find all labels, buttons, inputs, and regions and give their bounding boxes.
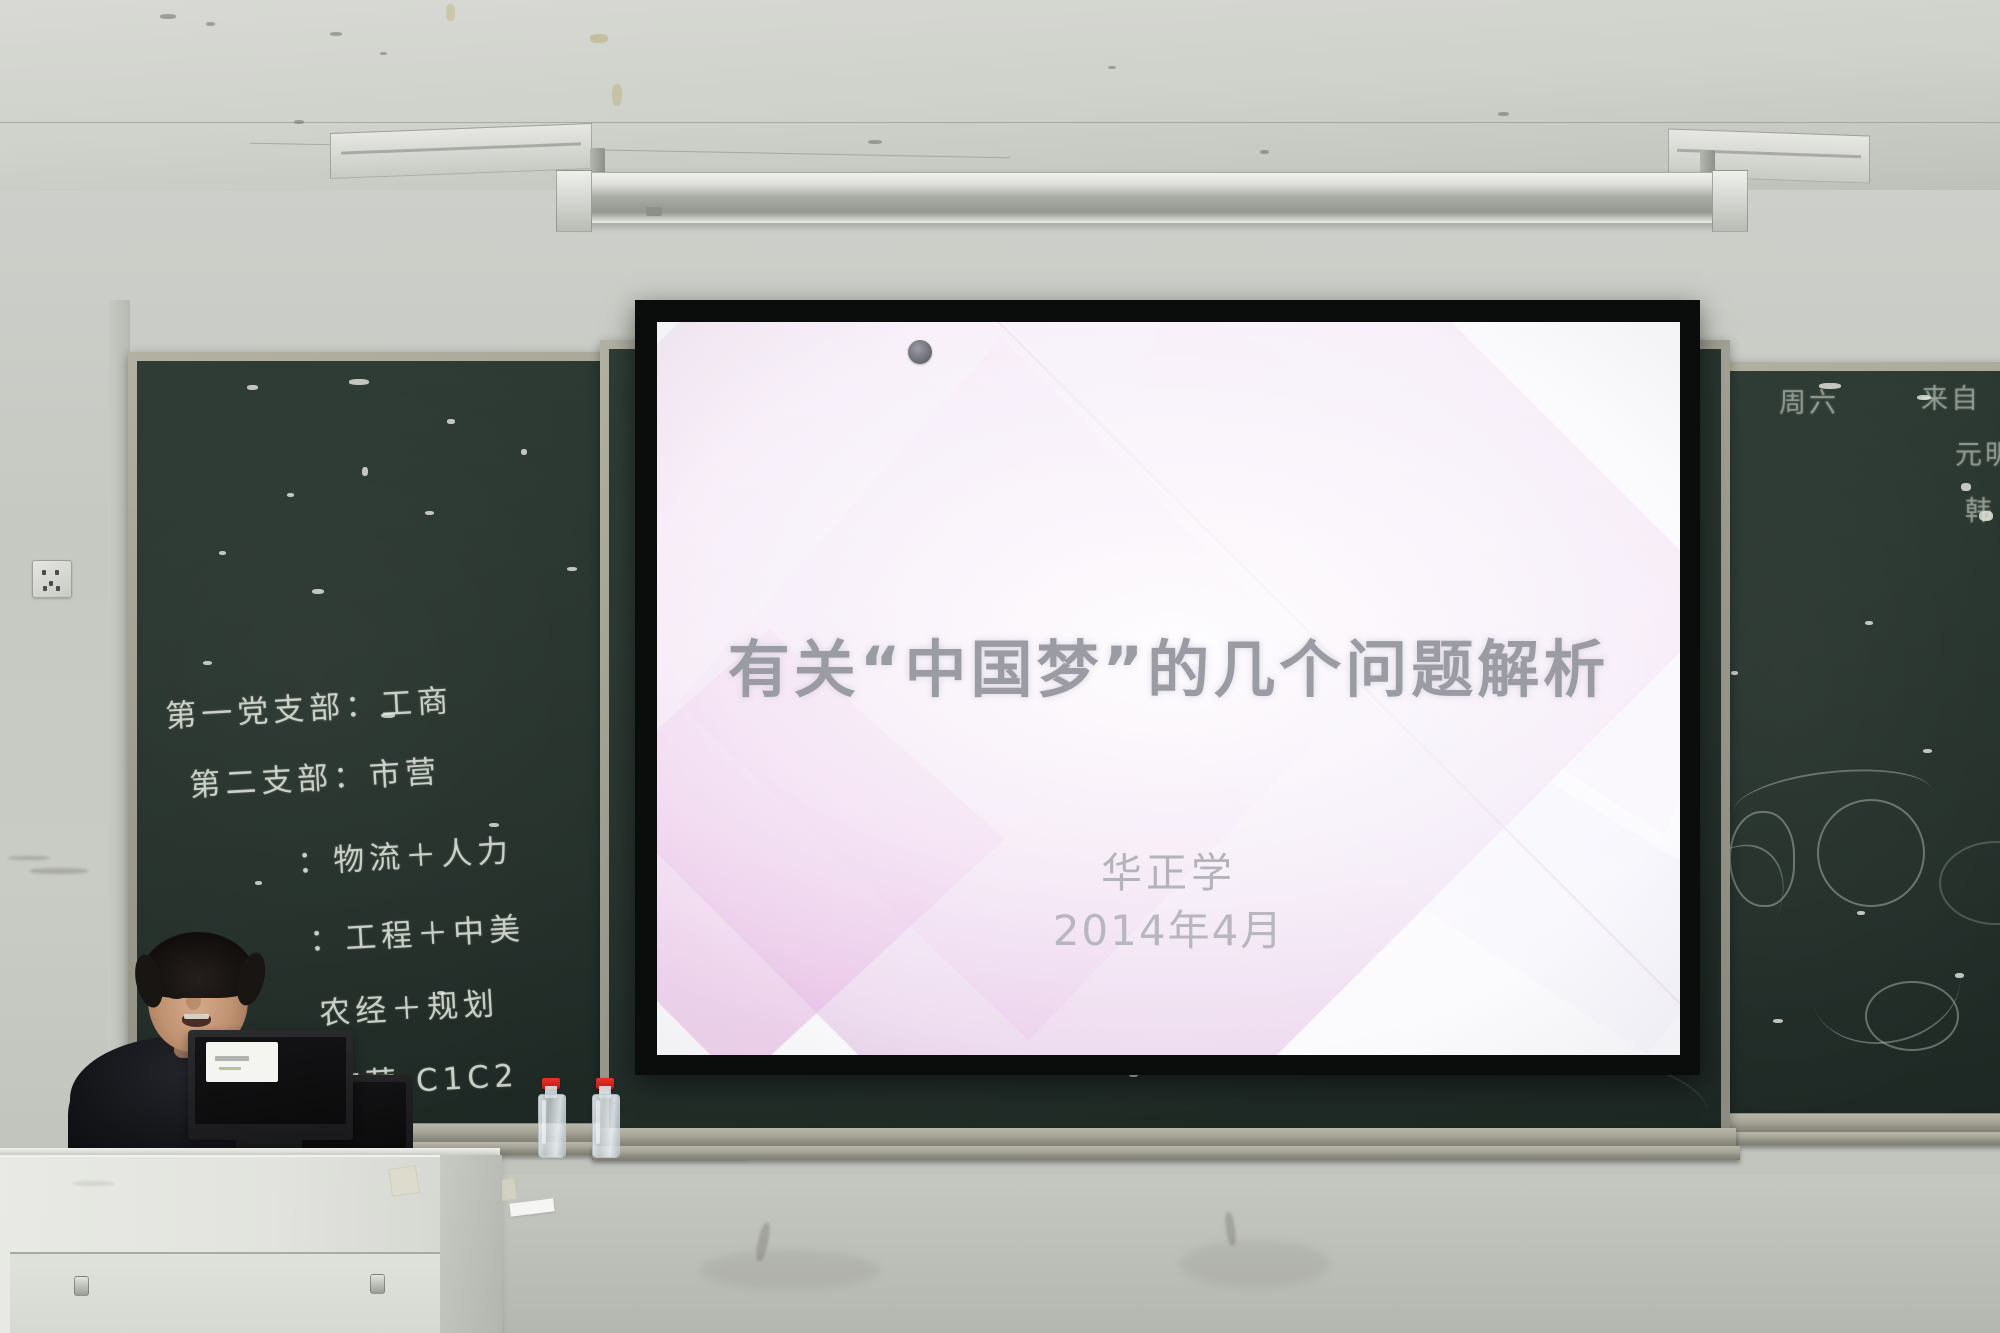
water-bottle-2[interactable] xyxy=(592,1078,618,1156)
projected-slide: 有关“中国梦”的几个问题解析 华正学 2014年4月 xyxy=(657,322,1680,1055)
slide-date: 2014年4月 xyxy=(657,897,1680,958)
projection-screen[interactable]: 有关“中国梦”的几个问题解析 华正学 2014年4月 xyxy=(635,300,1700,1075)
chalk-line-1: 第一党支部：工商 xyxy=(164,675,454,736)
podium-lock-right[interactable] xyxy=(370,1274,385,1294)
podium-side xyxy=(440,1155,502,1333)
chalk-doodle-oval-4 xyxy=(1939,841,2000,925)
chalk-ledge-center-lip xyxy=(592,1146,1740,1160)
screen-roller-end-right xyxy=(1712,170,1748,232)
podium-lock-left[interactable] xyxy=(74,1276,89,1296)
chalk-right-5: 韩 xyxy=(1965,489,1995,528)
water-bottle-1[interactable] xyxy=(538,1078,564,1156)
classroom-scene: 第一党支部：工商 第二支部：市营 ：物流＋人力 ：工程＋中美 农经＋规划 市营 … xyxy=(0,0,2000,1333)
chalk-line-2: 第二支部：市营 xyxy=(188,746,442,805)
podium-tape-1 xyxy=(388,1165,420,1197)
projection-screen-housing[interactable] xyxy=(575,172,1717,224)
screen-roller-end-left xyxy=(556,170,592,232)
chalk-doodle-circle-3 xyxy=(1865,981,1959,1051)
chalk-ledge-center xyxy=(596,1128,1736,1148)
chalk-line-3: ：物流＋人力 xyxy=(296,825,514,882)
podium-front-panel xyxy=(10,1252,440,1333)
slide-watermark-right xyxy=(1107,322,1680,835)
chalk-line-4: ：工程＋中美 xyxy=(308,903,526,960)
monitor-brand-label-1 xyxy=(206,1042,278,1082)
chalk-line-5: 农经＋规划 xyxy=(318,978,500,1033)
monitor-primary[interactable] xyxy=(188,1030,353,1140)
wall-power-outlet[interactable] xyxy=(32,560,72,598)
chalk-right-4: 元明 xyxy=(1955,433,2000,472)
slide-author: 华正学 xyxy=(657,839,1680,899)
slide-title: 有关“中国梦”的几个问题解析 xyxy=(657,619,1680,709)
screen-blemish-dot xyxy=(908,340,932,364)
